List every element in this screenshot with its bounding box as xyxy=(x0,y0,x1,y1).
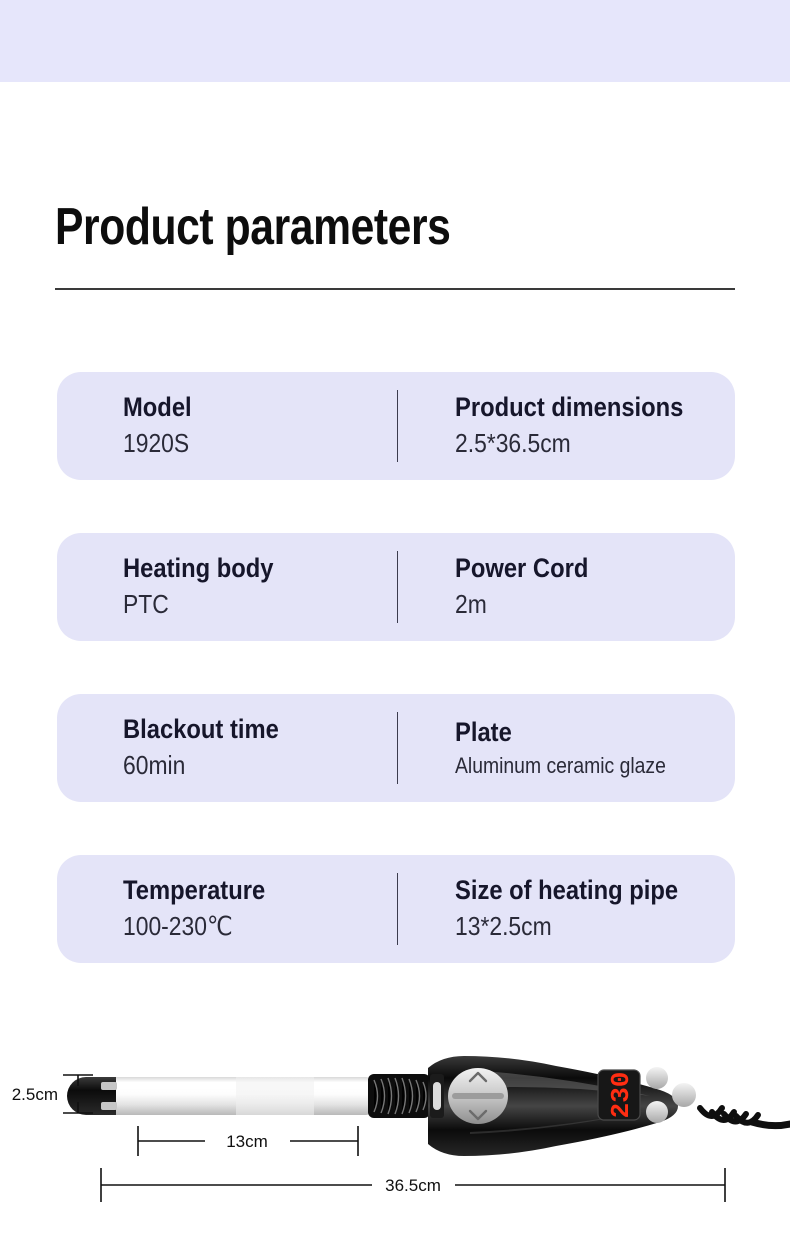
parameter-label: Blackout time xyxy=(123,713,361,746)
parameter-cell-plate: Plate Aluminum ceramic glaze xyxy=(455,694,735,802)
parameter-label: Size of heating pipe xyxy=(455,874,701,907)
parameter-label: Power Cord xyxy=(455,552,701,585)
power-button[interactable] xyxy=(672,1083,696,1107)
parameter-cell-model: Model 1920S xyxy=(123,372,393,480)
dimension-label-total-length: 36.5cm xyxy=(385,1176,441,1195)
cell-divider xyxy=(397,551,398,623)
parameter-row: Temperature 100-230℃ Size of heating pip… xyxy=(57,855,735,963)
top-banner xyxy=(0,0,790,82)
parameter-label: Plate xyxy=(455,716,701,749)
parameter-label: Model xyxy=(123,391,361,424)
parameter-row: Model 1920S Product dimensions 2.5*36.5c… xyxy=(57,372,735,480)
tip-stripe xyxy=(101,1082,117,1090)
page-title: Product parameters xyxy=(55,200,613,255)
parameter-label: Temperature xyxy=(123,874,361,907)
button-up[interactable] xyxy=(646,1067,668,1089)
parameter-cell-heating-pipe-size: Size of heating pipe 13*2.5cm xyxy=(455,855,735,963)
parameter-cell-power-cord: Power Cord 2m xyxy=(455,533,735,641)
parameter-value: 100-230℃ xyxy=(123,910,361,944)
parameter-cell-product-dimensions: Product dimensions 2.5*36.5cm xyxy=(455,372,735,480)
parameter-row: Heating body PTC Power Cord 2m xyxy=(57,533,735,641)
product-figure: 230 2.5cm 13cm 36.5cm xyxy=(0,1030,790,1259)
parameter-value: PTC xyxy=(123,588,361,622)
button-down[interactable] xyxy=(646,1101,668,1123)
parameter-cell-heating-body: Heating body PTC xyxy=(123,533,393,641)
parameter-cell-temperature: Temperature 100-230℃ xyxy=(123,855,393,963)
parameter-list: Model 1920S Product dimensions 2.5*36.5c… xyxy=(57,372,735,1016)
title-underline xyxy=(55,288,735,290)
dimension-label-diameter: 2.5cm xyxy=(12,1085,58,1104)
parameter-label: Product dimensions xyxy=(455,391,701,424)
parameter-value: 2m xyxy=(455,588,701,622)
parameter-cell-blackout-time: Blackout time 60min xyxy=(123,694,393,802)
parameter-value: 13*2.5cm xyxy=(455,910,701,944)
cell-divider xyxy=(397,712,398,784)
parameter-label: Heating body xyxy=(123,552,361,585)
parameter-value: 1920S xyxy=(123,427,361,461)
hinge-slot xyxy=(433,1082,441,1110)
parameter-value: 60min xyxy=(123,749,361,783)
tip-stripe xyxy=(101,1102,117,1110)
title-block: Product parameters xyxy=(55,200,735,255)
parameter-row: Blackout time 60min Plate Aluminum ceram… xyxy=(57,694,735,802)
parameter-value: 2.5*36.5cm xyxy=(455,427,701,461)
power-cord xyxy=(752,1122,790,1126)
parameter-value: Aluminum ceramic glaze xyxy=(455,752,701,781)
led-display-value: 230 xyxy=(606,1072,636,1119)
dimension-label-barrel-length: 13cm xyxy=(226,1132,268,1151)
cell-divider xyxy=(397,390,398,462)
control-pad-split xyxy=(452,1093,504,1099)
barrel-seam xyxy=(236,1077,314,1115)
cell-divider xyxy=(397,873,398,945)
